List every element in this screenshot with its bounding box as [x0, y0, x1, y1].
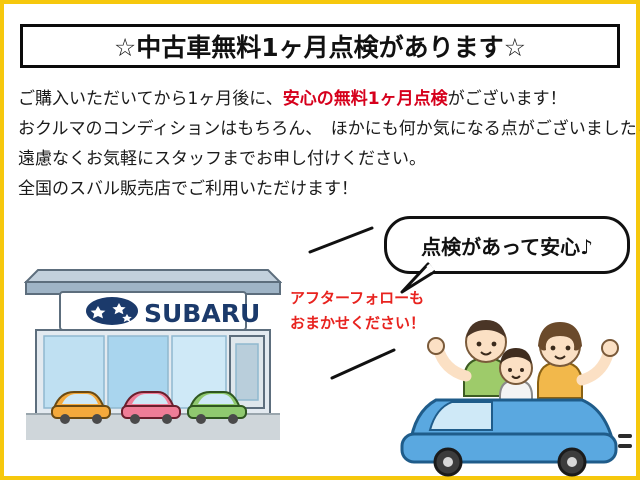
pointer-line-upper: [306, 226, 386, 256]
illustration-area: SUBARU: [6, 206, 640, 486]
flyer-inner-border: ☆中古車無料1ヶ月点検があります☆ ご購入いただいてから1ヶ月後に、安心の無料1…: [4, 4, 636, 476]
copy-line-1-part-3: がございます！: [448, 89, 567, 109]
copy-line-1: ご購入いただいてから1ヶ月後に、安心の無料1ヶ月点検がございます！: [18, 84, 634, 114]
headline-banner: ☆中古車無料1ヶ月点検があります☆: [20, 24, 620, 68]
copy-line-1-part-1: ご購入いただいてから1ヶ月後に、: [18, 89, 283, 109]
mother: [538, 322, 618, 398]
copy-line-2: おクルマのコンディションはもちろん、 ほかにも何か気になる点がございましたら: [18, 114, 634, 144]
father: [428, 320, 508, 396]
showroom-illustration: SUBARU: [24, 248, 282, 444]
subaru-six-star-logo: [86, 297, 138, 325]
showroom-sign-text: SUBARU: [144, 299, 260, 328]
family-in-blue-car: [386, 284, 636, 480]
headline-text: ☆中古車無料1ヶ月点検があります☆: [114, 28, 526, 64]
speech-bubble-text: 点検があって安心♪: [421, 231, 593, 260]
copy-line-4: 全国のスバル販売店でご利用いただけます！: [18, 174, 634, 204]
copy-line-1-emphasis: 安心の無料1ヶ月点検: [283, 89, 448, 109]
child: [500, 348, 532, 404]
copy-line-3: 遠慮なくお気軽にスタッフまでお申し付けください。: [18, 144, 634, 174]
flyer-page: ☆中古車無料1ヶ月点検があります☆ ご購入いただいてから1ヶ月後に、安心の無料1…: [0, 0, 640, 480]
body-copy: ご購入いただいてから1ヶ月後に、安心の無料1ヶ月点検がございます！ おクルマのコ…: [18, 84, 634, 204]
